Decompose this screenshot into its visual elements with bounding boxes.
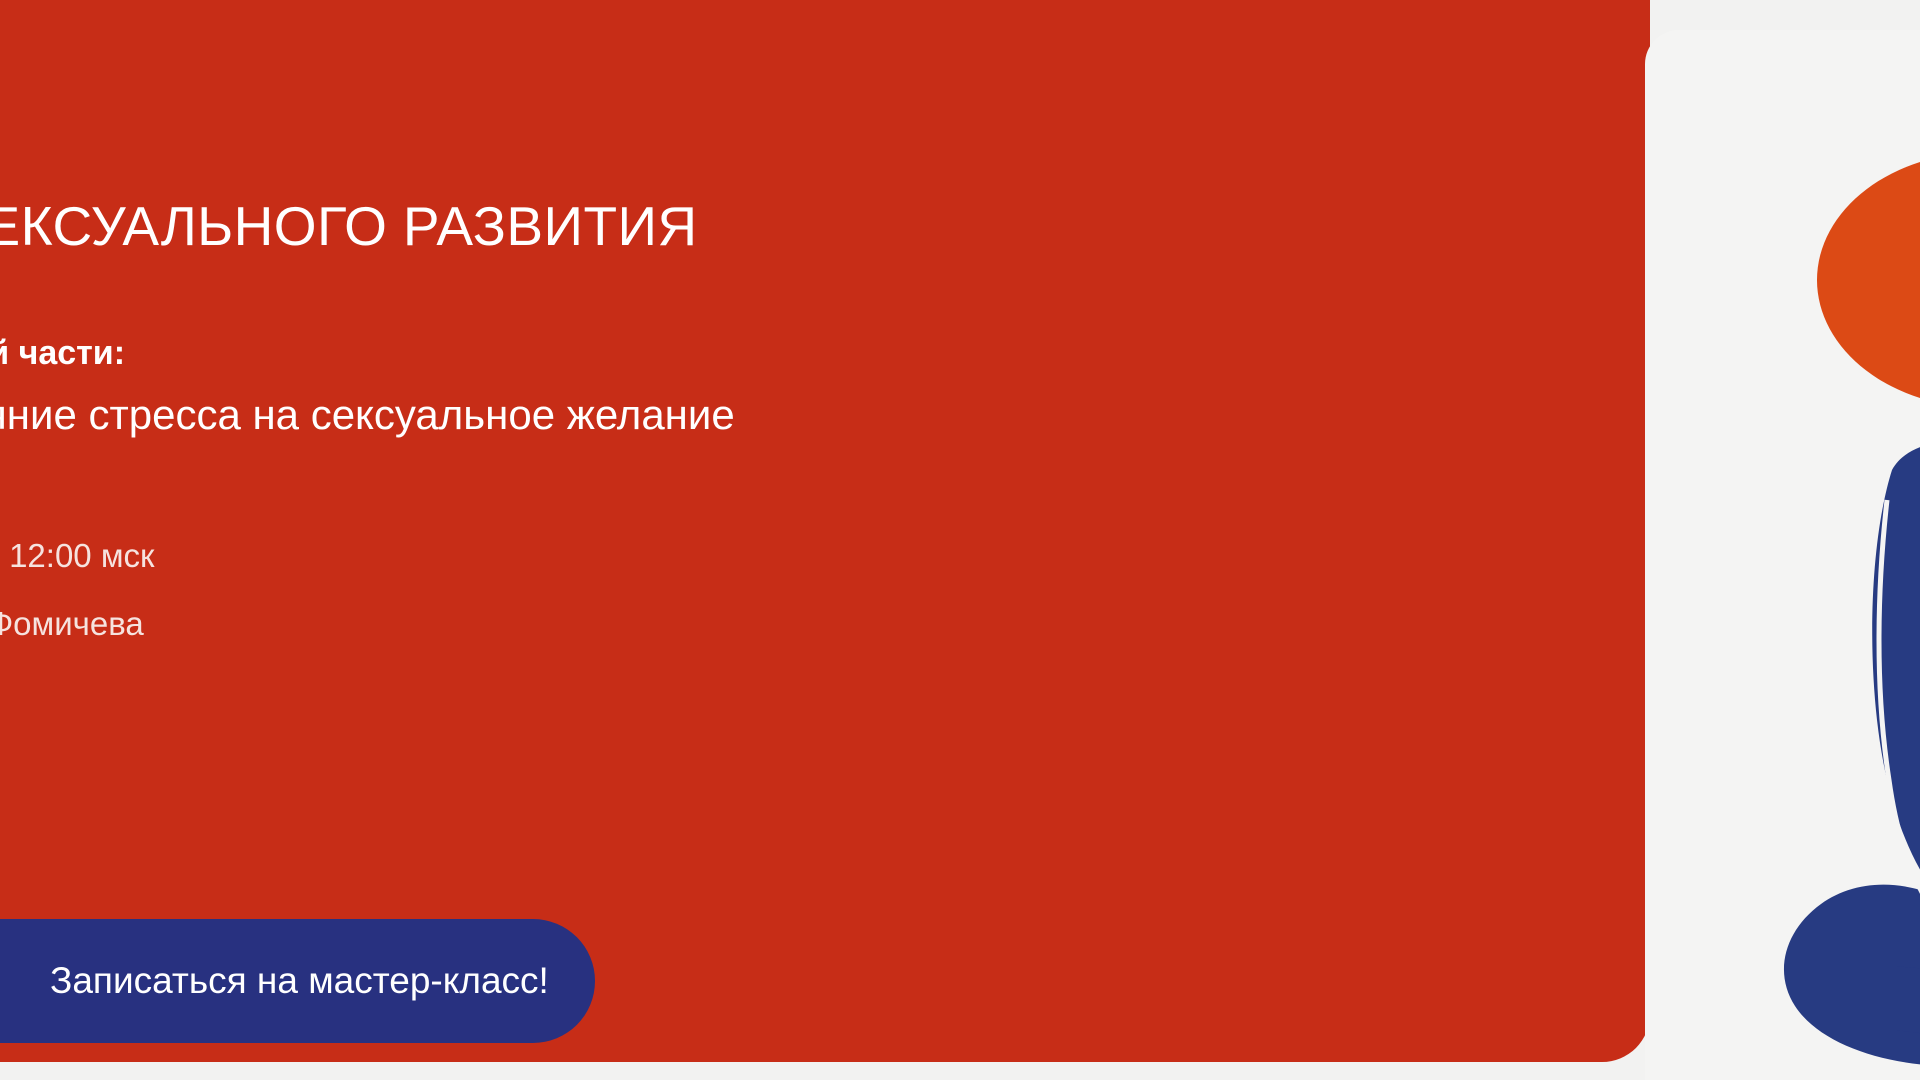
- topic-line: Либидо: влияние стресса на сексуальное ж…: [0, 391, 1175, 439]
- practical-part-subheading: В практической части:: [0, 334, 1175, 373]
- page-title: ПСИХОСЕКСУАЛЬНОГО РАЗВИТИЯ: [0, 196, 1175, 258]
- banner-copy-column: ПСИХОСЕКСУАЛЬНОГО РАЗВИТИЯ В практическо…: [0, 196, 1175, 640]
- promo-banner: ПСИХОСЕКСУАЛЬНОГО РАЗВИТИЯ В практическо…: [0, 0, 1920, 1080]
- register-button[interactable]: Записаться на мастер-класс!: [0, 919, 595, 1043]
- sun-circle: [1817, 152, 1920, 408]
- event-presenter: Ведущая: Анна Фомичева: [0, 607, 1175, 640]
- event-meta: Старт в 10:00 до 12:00 мск Ведущая: Анна…: [0, 539, 1175, 640]
- page-gutter: [0, 1062, 1645, 1080]
- event-time: Старт в 10:00 до 12:00 мск: [0, 539, 1175, 572]
- speaker-illustration-card: [1645, 30, 1920, 1080]
